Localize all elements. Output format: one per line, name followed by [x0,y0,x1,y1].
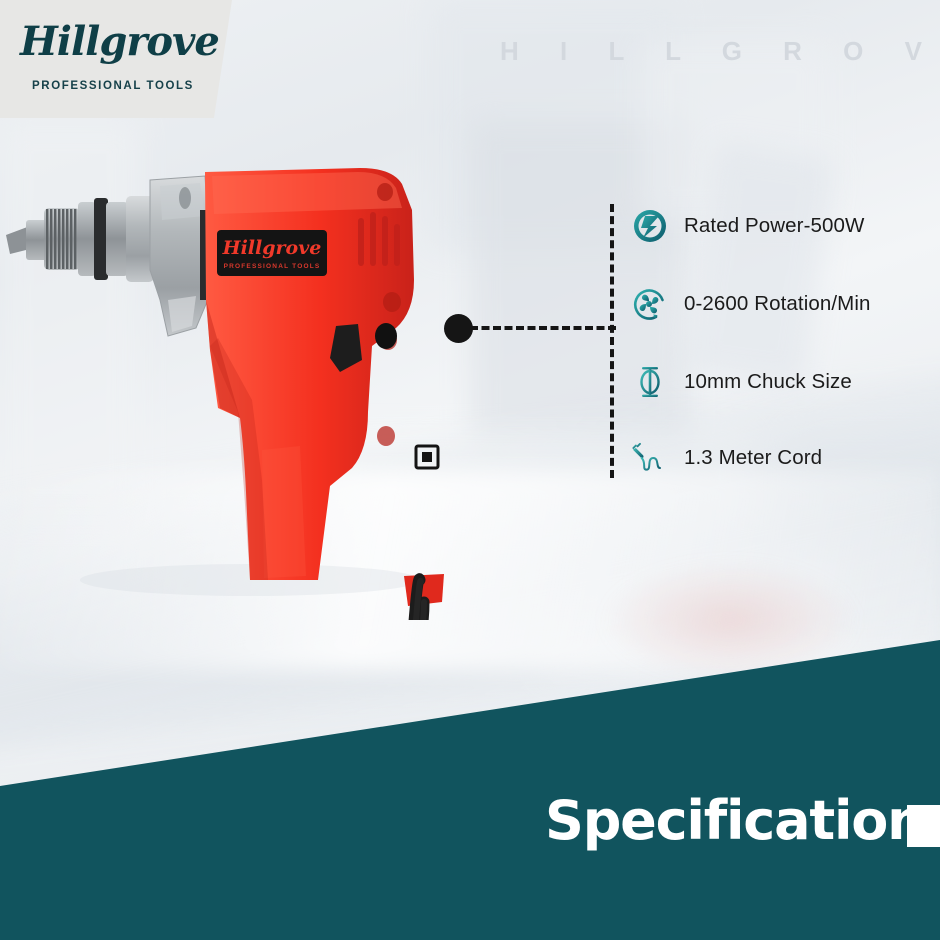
callout-leader-horizontal [470,326,616,330]
spec-label: 1.3 Meter Cord [684,446,822,470]
spec-label: Rated Power-500W [684,214,864,238]
brand-logo-plate: Hillgrove PROFESSIONAL TOOLS [0,0,232,118]
spec-item-rated-power: Rated Power-500W [630,204,864,248]
svg-text:PROFESSIONAL TOOLS: PROFESSIONAL TOOLS [224,263,321,270]
callout-leader-vertical [610,204,614,478]
chuck-diameter-icon [630,362,670,402]
power-bolt-icon [630,206,670,246]
banner-title: Specification [545,789,924,852]
rotation-fan-icon [630,284,670,324]
banner-accent-chip [907,805,940,847]
brand-logo-tagline: PROFESSIONAL TOOLS [20,80,206,92]
spec-item-rotation: 0-2600 Rotation/Min [630,282,871,326]
spec-item-chuck-size: 10mm Chuck Size [630,360,852,404]
svg-text:Hillgrove: Hillgrove [222,237,322,259]
brand-watermark: H I L L G R O V E [500,36,940,67]
power-cord-icon [630,438,670,478]
brand-logo-name: Hillgrove [20,22,212,62]
product-image-drill: Hillgrove PROFESSIONAL TOOLS [0,150,500,620]
spec-label: 0-2600 Rotation/Min [684,292,871,316]
spec-label: 10mm Chuck Size [684,370,852,394]
spec-item-cord-length: 1.3 Meter Cord [630,436,822,480]
callout-dot [444,314,473,343]
product-spec-banner: H I L L G R O V E Hillgrove PROFESSIONAL… [0,0,940,940]
